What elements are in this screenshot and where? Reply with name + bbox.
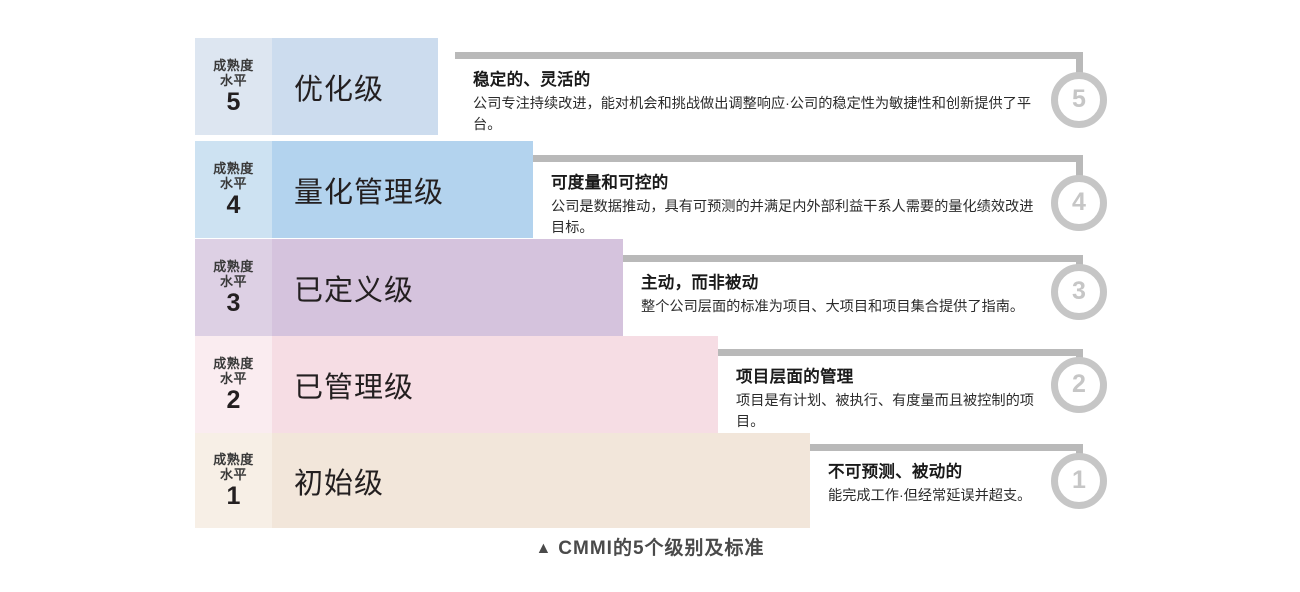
badge-number-5: 5 [1072, 87, 1086, 112]
badge-number-1: 1 [1072, 468, 1086, 493]
level-number-2: 2 [227, 388, 241, 413]
stage-block-1: 初始级 [272, 433, 810, 528]
badge-number-2: 2 [1072, 372, 1086, 397]
level-prefix-line1-1: 成熟度 [213, 452, 254, 467]
level-number-4: 4 [227, 193, 241, 218]
callout-title-5: 稳定的、灵活的 [473, 66, 1037, 90]
level-prefix-line2-3: 水平 [220, 274, 247, 289]
level-prefix-line1-5: 成熟度 [213, 58, 254, 73]
stage-name-5: 优化级 [294, 66, 384, 108]
stage-block-3: 已定义级 [272, 239, 623, 336]
level-label-3: 成熟度 水平 3 [195, 239, 272, 336]
figure-caption: ▲CMMI的5个级别及标准 [0, 533, 1300, 560]
callout-title-3: 主动，而非被动 [641, 269, 1037, 293]
callout-body-1: 能完成工作·但经常延误并超支。 [828, 486, 1037, 507]
maturity-band-4: 成熟度 水平 4 量化管理级 [195, 141, 533, 238]
stage-name-4: 量化管理级 [294, 169, 444, 211]
level-label-4: 成熟度 水平 4 [195, 141, 272, 238]
stage-block-4: 量化管理级 [272, 141, 533, 238]
badge-number-4: 4 [1072, 190, 1086, 215]
callout-body-2: 项目是有计划、被执行、有度量而且被控制的项目。 [736, 391, 1037, 433]
level-number-5: 5 [227, 90, 241, 115]
badge-circle-2: 2 [1051, 357, 1107, 413]
level-prefix-line1-3: 成熟度 [213, 259, 254, 274]
level-number-3: 3 [227, 291, 241, 316]
stage-name-3: 已定义级 [294, 267, 414, 309]
callout-bar-4 [533, 155, 1083, 162]
stage-name-2: 已管理级 [294, 364, 414, 406]
cmmi-maturity-diagram: 成熟度 水平 5 优化级 稳定的、灵活的 公司专注持续改进，能对机会和挑战做出调… [0, 0, 1300, 592]
level-prefix-line1-4: 成熟度 [213, 161, 254, 176]
level-number-1: 1 [227, 484, 241, 509]
triangle-marker-icon: ▲ [535, 540, 552, 557]
badge-circle-1: 1 [1051, 453, 1107, 509]
maturity-band-5: 成熟度 水平 5 优化级 [195, 38, 438, 135]
level-label-1: 成熟度 水平 1 [195, 433, 272, 528]
level-prefix-line1-2: 成熟度 [213, 356, 254, 371]
callout-bar-2 [718, 349, 1083, 356]
callout-4: 可度量和可控的 公司是数据推动，具有可预测的并满足内外部利益干系人需要的量化绩效… [533, 155, 1083, 243]
level-label-2: 成熟度 水平 2 [195, 336, 272, 433]
callout-title-2: 项目层面的管理 [736, 363, 1037, 387]
callout-bar-1 [810, 444, 1083, 451]
stage-block-2: 已管理级 [272, 336, 718, 433]
callout-1: 不可预测、被动的 能完成工作·但经常延误并超支。 [810, 444, 1083, 530]
caption-text: CMMI的5个级别及标准 [558, 538, 764, 559]
callout-bar-3 [623, 255, 1083, 262]
stage-name-1: 初始级 [294, 460, 384, 502]
callout-title-4: 可度量和可控的 [551, 169, 1037, 193]
callout-body-5: 公司专注持续改进，能对机会和挑战做出调整响应·公司的稳定性为敏捷性和创新提供了平… [473, 94, 1037, 136]
callout-body-3: 整个公司层面的标准为项目、大项目和项目集合提供了指南。 [641, 297, 1037, 318]
callout-title-1: 不可预测、被动的 [828, 458, 1037, 482]
stage-block-5: 优化级 [272, 38, 438, 135]
maturity-band-3: 成熟度 水平 3 已定义级 [195, 239, 623, 336]
level-prefix-line2-1: 水平 [220, 467, 247, 482]
maturity-band-2: 成熟度 水平 2 已管理级 [195, 336, 718, 433]
callout-body-4: 公司是数据推动，具有可预测的并满足内外部利益干系人需要的量化绩效改进目标。 [551, 197, 1037, 239]
badge-circle-5: 5 [1051, 72, 1107, 128]
maturity-band-1: 成熟度 水平 1 初始级 [195, 433, 810, 528]
level-prefix-line2-5: 水平 [220, 73, 247, 88]
callout-5: 稳定的、灵活的 公司专注持续改进，能对机会和挑战做出调整响应·公司的稳定性为敏捷… [455, 52, 1083, 140]
level-prefix-line2-4: 水平 [220, 176, 247, 191]
level-prefix-line2-2: 水平 [220, 371, 247, 386]
callout-2: 项目层面的管理 项目是有计划、被执行、有度量而且被控制的项目。 [718, 349, 1083, 435]
callout-bar-5 [455, 52, 1083, 59]
callout-3: 主动，而非被动 整个公司层面的标准为项目、大项目和项目集合提供了指南。 [623, 255, 1083, 341]
badge-circle-4: 4 [1051, 175, 1107, 231]
level-label-5: 成熟度 水平 5 [195, 38, 272, 135]
badge-circle-3: 3 [1051, 264, 1107, 320]
badge-number-3: 3 [1072, 279, 1086, 304]
